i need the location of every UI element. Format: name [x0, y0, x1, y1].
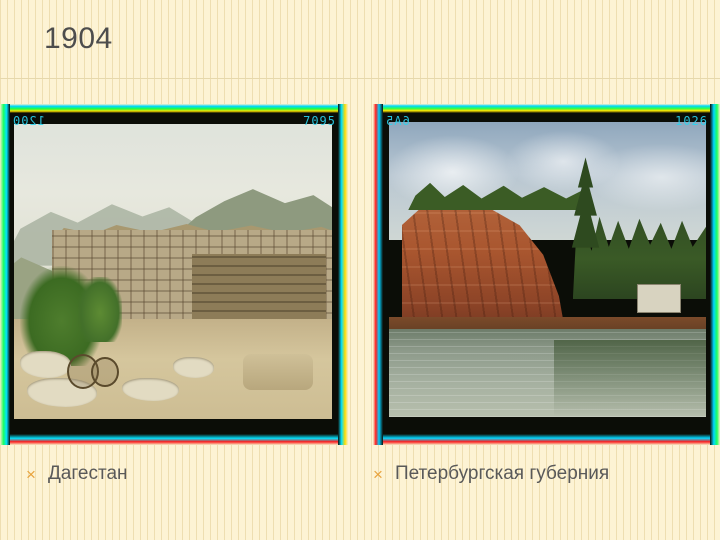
plate-edge-marking-left-photo: 1200 — [12, 114, 45, 128]
photo-left-frame: 7095 1200 — [0, 104, 348, 445]
chromatic-fringe-left — [373, 104, 383, 445]
caption-right: × Петербургская губерния — [373, 463, 609, 485]
plate-number-right-photo: 1026 — [675, 114, 708, 128]
photo-left-image — [14, 124, 332, 419]
caption-left-label: Дагестан — [48, 463, 128, 485]
caption-right-label: Петербургская губерния — [395, 463, 609, 485]
photo-right[interactable]: 1026 6A5 — [373, 104, 720, 445]
caption-left: × Дагестан — [26, 463, 128, 485]
rock — [173, 357, 214, 378]
tree-mid — [78, 277, 123, 342]
cart — [65, 342, 119, 392]
chromatic-fringe-bottom — [0, 434, 348, 445]
chromatic-fringe-right — [710, 104, 720, 445]
chromatic-fringe-top — [0, 104, 348, 113]
title-divider — [0, 78, 720, 79]
forest-reflection — [554, 340, 706, 417]
plate-number-left-photo: 7095 — [303, 114, 336, 128]
photo-right-image — [389, 122, 706, 417]
chromatic-fringe-right — [338, 104, 348, 445]
photo-left[interactable]: 7095 1200 — [0, 104, 348, 445]
page-title: 1904 — [44, 22, 113, 56]
bullet-icon: × — [26, 466, 36, 483]
slide: 1904 — [0, 0, 720, 540]
photo-right-frame: 1026 6A5 — [373, 104, 720, 445]
chromatic-fringe-bottom — [373, 434, 720, 445]
bullet-icon: × — [373, 466, 383, 483]
plate-edge-marking-right-photo: 6A5 — [385, 114, 410, 128]
rock — [20, 351, 71, 378]
riverside-shed — [637, 284, 680, 313]
cart-wheel — [91, 357, 119, 387]
chromatic-fringe-top — [373, 104, 720, 113]
chromatic-fringe-left — [0, 104, 10, 445]
timber-pile — [243, 354, 313, 389]
